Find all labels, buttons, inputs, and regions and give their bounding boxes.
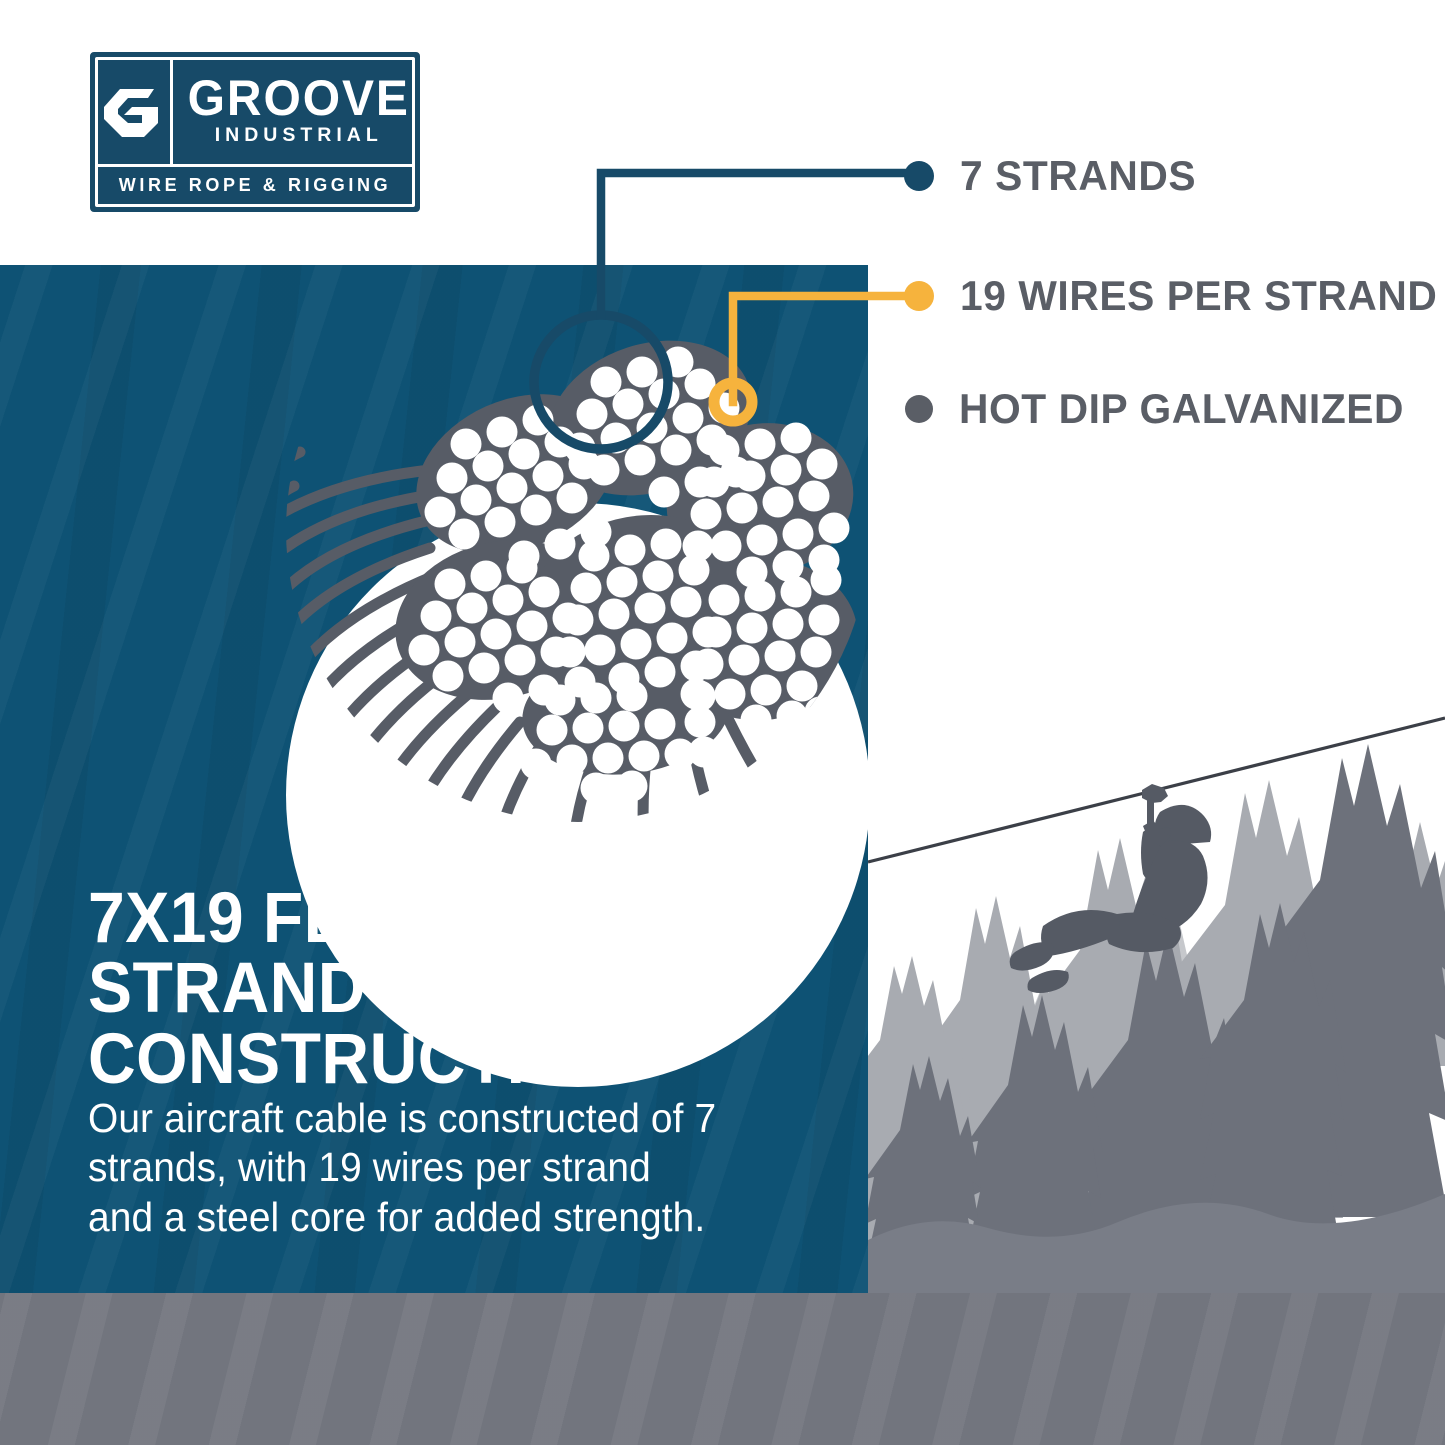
brand-logo[interactable]: GROOVE INDUSTRIAL WIRE ROPE & RIGGING (90, 52, 420, 212)
blue-content-panel: 7X19 FLEXIBLE STRAND CONSTRUCTION Our ai… (0, 265, 868, 1293)
logo-subtitle: INDUSTRIAL (215, 124, 383, 147)
callout-label-2: 19 WIRES PER STRAND (960, 272, 1437, 320)
callout-dot-yellow (904, 281, 934, 311)
callout-7-strands[interactable]: 7 STRANDS (904, 152, 1203, 200)
groove-g-icon (98, 60, 173, 164)
body-paragraph: Our aircraft cable is constructed of 7 s… (88, 1094, 722, 1242)
zipline-rider (1010, 784, 1211, 993)
footer-texture (0, 1293, 1445, 1445)
logo-top-row: GROOVE INDUSTRIAL (98, 60, 412, 167)
forest-ground (868, 1194, 1445, 1293)
logo-inner-frame: GROOVE INDUSTRIAL WIRE ROPE & RIGGING (95, 57, 415, 207)
headline-line-2: STRAND CONSTRUCTION (88, 954, 795, 1095)
tree-layer-mid (840, 780, 1445, 1261)
callout-hot-dip-galvanized[interactable]: HOT DIP GALVANIZED (904, 385, 1418, 433)
callout-19-wires[interactable]: 19 WIRES PER STRAND (904, 272, 1445, 320)
callout-dot-navy (904, 161, 934, 191)
infographic-canvas: 7X19 FLEXIBLE STRAND CONSTRUCTION Our ai… (0, 0, 1445, 1445)
logo-tagline-row: WIRE ROPE & RIGGING (98, 167, 412, 204)
zipline-cable (868, 718, 1445, 862)
callout-label-1: 7 STRANDS (960, 152, 1196, 200)
page-title: 7X19 FLEXIBLE STRAND CONSTRUCTION (88, 884, 795, 1095)
tree-layer-far (860, 849, 1374, 1248)
callout-dot-gray (905, 395, 933, 423)
logo-name: GROOVE (188, 75, 410, 121)
footer-bar (0, 1293, 1445, 1445)
logo-wordmark: GROOVE INDUSTRIAL (173, 60, 422, 164)
headline-line-1: 7X19 FLEXIBLE (88, 879, 586, 958)
logo-tagline: WIRE ROPE & RIGGING (119, 175, 391, 196)
callout-label-3: HOT DIP GALVANIZED (959, 385, 1404, 433)
tree-layer-near (865, 744, 1445, 1321)
